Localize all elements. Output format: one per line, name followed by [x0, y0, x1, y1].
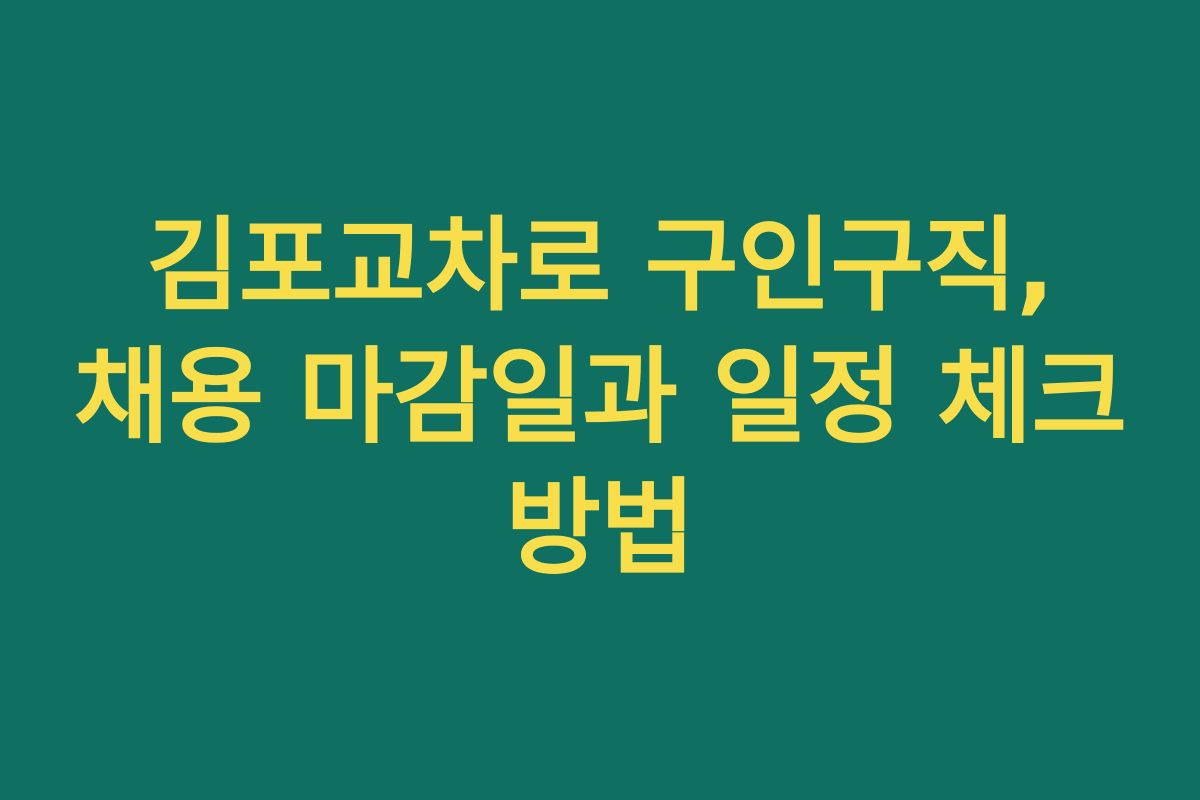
- page-title: 김포교차로 구인구직, 채용 마감일과 일정 체크 방법: [25, 201, 1175, 600]
- thumbnail-canvas: 김포교차로 구인구직, 채용 마감일과 일정 체크 방법: [0, 0, 1200, 800]
- title-line-2: 채용 마감일과 일정 체크: [25, 332, 1175, 463]
- title-line-3: 방법: [25, 463, 1175, 594]
- title-line-1: 김포교차로 구인구직,: [25, 201, 1175, 332]
